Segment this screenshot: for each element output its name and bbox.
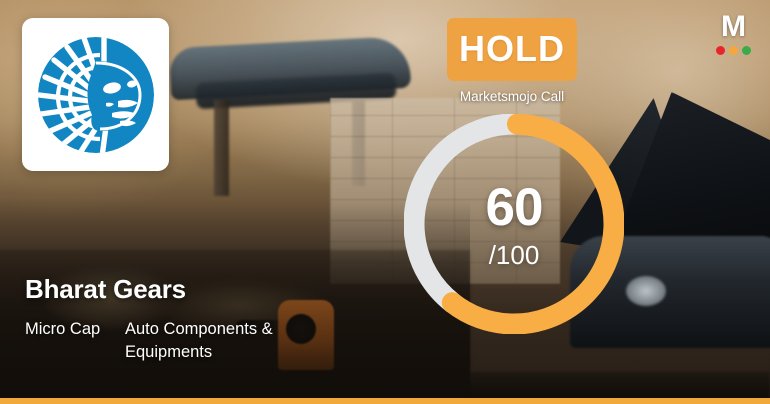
marketsmojo-logo-letter: M	[709, 12, 757, 42]
company-meta-row: Micro Cap Auto Components & Equipments	[25, 318, 325, 364]
logo-dot-orange	[729, 46, 738, 55]
call-badge[interactable]: HOLD	[447, 18, 577, 81]
company-info: Bharat Gears Micro Cap Auto Components &…	[25, 275, 325, 364]
company-name: Bharat Gears	[25, 275, 325, 304]
lift-post-left	[214, 100, 229, 196]
market-cap-label: Micro Cap	[25, 318, 105, 364]
stock-summary-card: HOLD Marketsmojo Call 60 /100 Bharat Gea…	[0, 0, 770, 404]
company-logo-card	[22, 18, 169, 171]
analyst-call-block: HOLD Marketsmojo Call	[447, 18, 577, 105]
lion-head-logo-icon	[34, 33, 158, 157]
logo-dot-red	[716, 46, 725, 55]
marketsmojo-logo-dots	[709, 46, 757, 55]
call-caption: Marketsmojo Call	[447, 89, 577, 105]
marketsmojo-watermark: M	[709, 12, 757, 55]
sector-label: Auto Components & Equipments	[125, 318, 325, 364]
logo-dot-green	[742, 46, 751, 55]
score-gauge: 60 /100	[404, 114, 624, 334]
car-headlight	[626, 276, 666, 306]
